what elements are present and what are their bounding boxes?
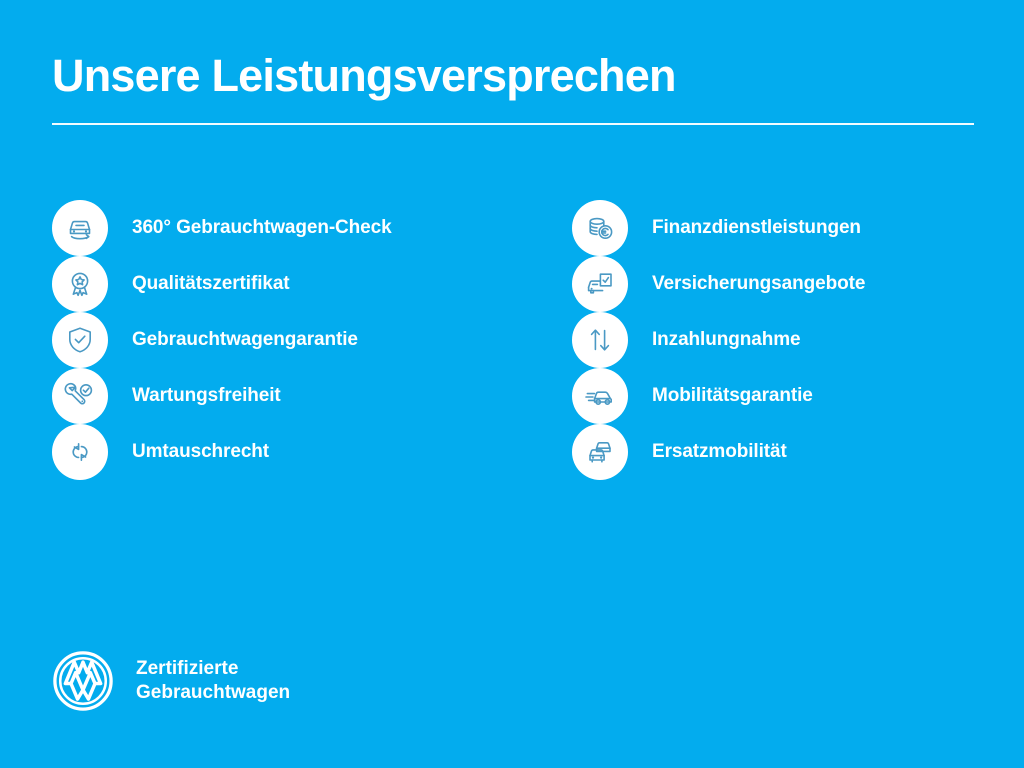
volkswagen-logo [52,650,114,712]
promise-item-umtauschrecht[interactable]: Umtauschrecht [52,424,572,480]
car-motion-icon [572,368,628,424]
promise-item-versicherungsangebote[interactable]: Versicherungsangebote [572,256,974,312]
promise-label: Versicherungsangebote [652,273,865,295]
brand-lockup: Zertifizierte Gebrauchtwagen [52,650,290,712]
brand-line-1: Zertifizierte [136,658,238,679]
promise-label: Umtauschrecht [132,441,269,463]
award-rosette-icon [52,256,108,312]
promise-label: Qualitätszertifikat [132,273,290,295]
exchange-arrows-icon [52,424,108,480]
promise-label: 360° Gebrauchtwagen-Check [132,217,392,239]
title-divider [52,123,974,125]
promise-item-gebrauchtwagengarantie[interactable]: Gebrauchtwagengarantie [52,312,572,368]
car-document-check-icon [572,256,628,312]
promise-grid: 360° Gebrauchtwagen-Check Qualitätszerti… [52,200,974,278]
promise-item-mobilitaetsgarantie[interactable]: Mobilitätsgarantie [572,368,974,424]
promise-column-right: Finanzdienstleistungen Versicherungsange… [572,200,974,278]
promise-label: Ersatzmobilität [652,441,787,463]
promise-item-wartungsfreiheit[interactable]: Wartungsfreiheit [52,368,572,424]
promise-column-left: 360° Gebrauchtwagen-Check Qualitätszerti… [52,200,572,278]
two-cars-icon [572,424,628,480]
brand-text: Zertifizierte Gebrauchtwagen [136,657,290,705]
promise-item-ersatzmobilitaet[interactable]: Ersatzmobilität [572,424,974,480]
car-360-check-icon [52,200,108,256]
page-title: Unsere Leistungsversprechen [52,52,974,99]
brand-line-2: Gebrauchtwagen [136,682,290,703]
promise-item-qualitaetszertifikat[interactable]: Qualitätszertifikat [52,256,572,312]
promise-item-inzahlungnahme[interactable]: Inzahlungnahme [572,312,974,368]
promise-label: Wartungsfreiheit [132,385,281,407]
promise-label: Gebrauchtwagengarantie [132,329,358,351]
wrench-check-icon [52,368,108,424]
coins-euro-icon [572,200,628,256]
header: Unsere Leistungsversprechen [52,52,974,125]
promise-label: Finanzdienstleistungen [652,217,861,239]
up-down-arrows-icon [572,312,628,368]
promise-item-gebrauchtwagen-check[interactable]: 360° Gebrauchtwagen-Check [52,200,572,256]
slide-root: Unsere Leistungsversprechen [0,0,1024,768]
shield-check-icon [52,312,108,368]
promise-label: Inzahlungnahme [652,329,801,351]
promise-item-finanzdienstleistungen[interactable]: Finanzdienstleistungen [572,200,974,256]
promise-label: Mobilitätsgarantie [652,385,813,407]
